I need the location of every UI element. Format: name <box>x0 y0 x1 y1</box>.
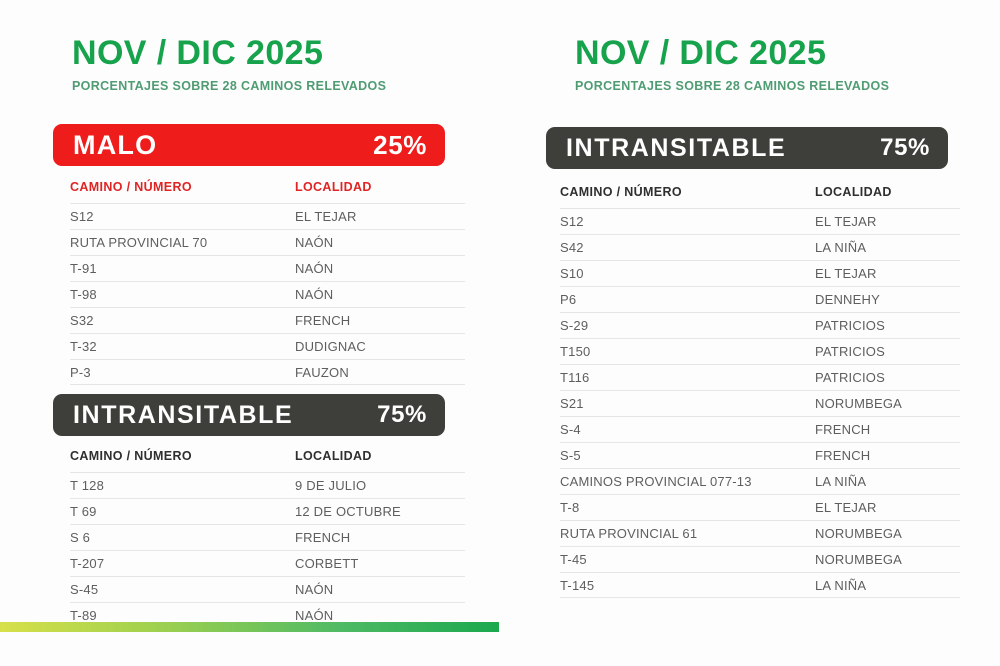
cell-road: S21 <box>560 396 815 411</box>
table-row: P-3 FAUZON <box>70 359 465 385</box>
cell-road: T-89 <box>70 608 295 623</box>
table-row: RUTA PROVINCIAL 61 NORUMBEGA <box>560 520 960 546</box>
gradient-fill <box>0 622 499 632</box>
status-badge-label: INTRANSITABLE <box>566 136 786 161</box>
cell-locality: NAÓN <box>295 582 465 597</box>
panel-right: NOV / DIC 2025 PORCENTAJES SOBRE 28 CAMI… <box>500 0 1000 632</box>
table-row: T116 PATRICIOS <box>560 364 960 390</box>
cell-locality: PATRICIOS <box>815 318 960 333</box>
table-row: RUTA PROVINCIAL 70 NAÓN <box>70 229 465 255</box>
infographic-page: NOV / DIC 2025 PORCENTAJES SOBRE 28 CAMI… <box>0 0 1000 666</box>
cell-locality: NORUMBEGA <box>815 552 960 567</box>
cell-road: P-3 <box>70 365 295 380</box>
status-badge-percent: 25% <box>373 132 427 158</box>
column-header-locality: LOCALIDAD <box>295 449 465 463</box>
table-row: CAMINOS PROVINCIAL 077-13 LA NIÑA <box>560 468 960 494</box>
table-row: T-91 NAÓN <box>70 255 465 281</box>
cell-road: S 6 <box>70 530 295 545</box>
status-badge-label: INTRANSITABLE <box>73 403 293 428</box>
column-header-road: CAMINO / NÚMERO <box>70 449 295 463</box>
header-left: NOV / DIC 2025 PORCENTAJES SOBRE 28 CAMI… <box>72 36 386 93</box>
table-header-row: CAMINO / NÚMERO LOCALIDAD <box>560 185 960 208</box>
header-right: NOV / DIC 2025 PORCENTAJES SOBRE 28 CAMI… <box>575 36 889 93</box>
cell-locality: NAÓN <box>295 261 465 276</box>
page-subtitle: PORCENTAJES SOBRE 28 CAMINOS RELEVADOS <box>72 79 386 93</box>
table-row: T-145 LA NIÑA <box>560 572 960 598</box>
column-header-road: CAMINO / NÚMERO <box>560 185 815 199</box>
cell-road: T-32 <box>70 339 295 354</box>
cell-road: T-8 <box>560 500 815 515</box>
cell-locality: LA NIÑA <box>815 240 960 255</box>
cell-road: S10 <box>560 266 815 281</box>
cell-locality: CORBETT <box>295 556 465 571</box>
status-banner-intransitable: INTRANSITABLE 75% <box>53 394 445 436</box>
table-row: S-5 FRENCH <box>560 442 960 468</box>
cell-road: T-145 <box>560 578 815 593</box>
cell-road: T-45 <box>560 552 815 567</box>
column-header-road: CAMINO / NÚMERO <box>70 180 295 194</box>
table-row: T-32 DUDIGNAC <box>70 333 465 359</box>
cell-road: T 69 <box>70 504 295 519</box>
cell-road: S-5 <box>560 448 815 463</box>
cell-road: T-207 <box>70 556 295 571</box>
status-badge-label: MALO <box>73 132 157 159</box>
table-row: T-207 CORBETT <box>70 550 465 576</box>
cell-locality: 12 DE OCTUBRE <box>295 504 465 519</box>
cell-road: T-98 <box>70 287 295 302</box>
cell-locality: DENNEHY <box>815 292 960 307</box>
cell-locality: FRENCH <box>295 530 465 545</box>
cell-locality: NAÓN <box>295 235 465 250</box>
cell-locality: 9 DE JULIO <box>295 478 465 493</box>
cell-road: T116 <box>560 370 815 385</box>
cell-locality: NAÓN <box>295 608 465 623</box>
cell-road: T 128 <box>70 478 295 493</box>
cell-locality: FRENCH <box>815 422 960 437</box>
cell-road: S-45 <box>70 582 295 597</box>
table-row: S-29 PATRICIOS <box>560 312 960 338</box>
table-row: S 6 FRENCH <box>70 524 465 550</box>
cell-locality: NORUMBEGA <box>815 526 960 541</box>
cell-locality: FRENCH <box>295 313 465 328</box>
cell-locality: FRENCH <box>815 448 960 463</box>
table-row: S-4 FRENCH <box>560 416 960 442</box>
page-title: NOV / DIC 2025 <box>575 36 889 70</box>
cell-locality: FAUZON <box>295 365 465 380</box>
cell-road: S12 <box>560 214 815 229</box>
cell-locality: EL TEJAR <box>815 214 960 229</box>
table-row: S32 FRENCH <box>70 307 465 333</box>
cell-locality: LA NIÑA <box>815 578 960 593</box>
cell-road: T150 <box>560 344 815 359</box>
cell-locality: DUDIGNAC <box>295 339 465 354</box>
table-row: T-98 NAÓN <box>70 281 465 307</box>
table-intransitable-left: CAMINO / NÚMERO LOCALIDAD T 128 9 DE JUL… <box>70 449 465 628</box>
table-row: P6 DENNEHY <box>560 286 960 312</box>
cell-locality: NAÓN <box>295 287 465 302</box>
status-banner-malo: MALO 25% <box>53 124 445 166</box>
cell-road: T-91 <box>70 261 295 276</box>
footer-gradient-bar-left <box>0 622 499 632</box>
cell-locality: EL TEJAR <box>815 500 960 515</box>
cell-road: S-29 <box>560 318 815 333</box>
column-header-locality: LOCALIDAD <box>815 185 960 199</box>
table-row: T 69 12 DE OCTUBRE <box>70 498 465 524</box>
table-row: S10 EL TEJAR <box>560 260 960 286</box>
cell-locality: LA NIÑA <box>815 474 960 489</box>
cell-locality: NORUMBEGA <box>815 396 960 411</box>
status-badge-percent: 75% <box>880 136 930 160</box>
cell-road: S32 <box>70 313 295 328</box>
cell-road: S-4 <box>560 422 815 437</box>
cell-locality: PATRICIOS <box>815 370 960 385</box>
table-row: S42 LA NIÑA <box>560 234 960 260</box>
table-row: S21 NORUMBEGA <box>560 390 960 416</box>
table-row: S12 EL TEJAR <box>70 203 465 229</box>
cell-locality: EL TEJAR <box>815 266 960 281</box>
table-row: T-8 EL TEJAR <box>560 494 960 520</box>
page-subtitle: PORCENTAJES SOBRE 28 CAMINOS RELEVADOS <box>575 79 889 93</box>
cell-locality: PATRICIOS <box>815 344 960 359</box>
status-banner-intransitable: INTRANSITABLE 75% <box>546 127 948 169</box>
cell-road: RUTA PROVINCIAL 61 <box>560 526 815 541</box>
table-row: T150 PATRICIOS <box>560 338 960 364</box>
cell-road: CAMINOS PROVINCIAL 077-13 <box>560 474 815 489</box>
table-row: S-45 NAÓN <box>70 576 465 602</box>
table-intransitable-right: CAMINO / NÚMERO LOCALIDAD S12 EL TEJAR S… <box>560 185 960 598</box>
cell-road: RUTA PROVINCIAL 70 <box>70 235 295 250</box>
cell-road: S42 <box>560 240 815 255</box>
table-row: T-45 NORUMBEGA <box>560 546 960 572</box>
table-header-row: CAMINO / NÚMERO LOCALIDAD <box>70 180 465 203</box>
page-title: NOV / DIC 2025 <box>72 36 386 70</box>
table-row: S12 EL TEJAR <box>560 208 960 234</box>
cell-road: S12 <box>70 209 295 224</box>
table-malo: CAMINO / NÚMERO LOCALIDAD S12 EL TEJAR R… <box>70 180 465 385</box>
status-badge-percent: 75% <box>377 403 427 427</box>
cell-locality: EL TEJAR <box>295 209 465 224</box>
column-header-locality: LOCALIDAD <box>295 180 465 194</box>
panel-left: NOV / DIC 2025 PORCENTAJES SOBRE 28 CAMI… <box>0 0 500 632</box>
table-row: T 128 9 DE JULIO <box>70 472 465 498</box>
cell-road: P6 <box>560 292 815 307</box>
table-header-row: CAMINO / NÚMERO LOCALIDAD <box>70 449 465 472</box>
